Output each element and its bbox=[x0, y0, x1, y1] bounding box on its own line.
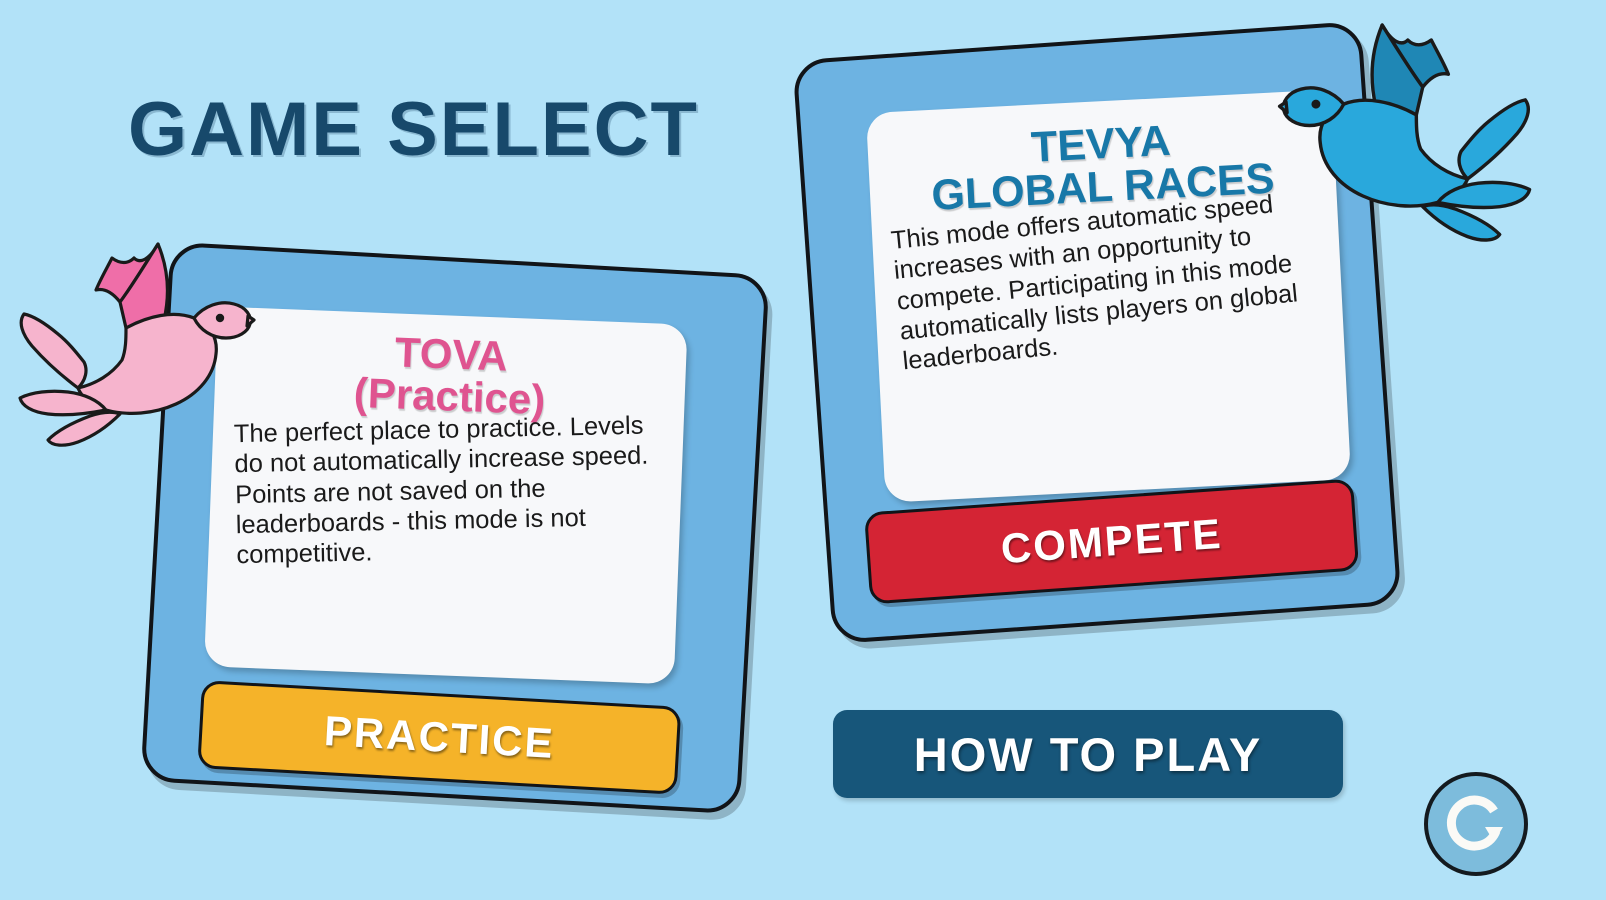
practice-button-label: PRACTICE bbox=[323, 707, 556, 768]
game-select-screen: GAME SELECT TOVA (Practice) The perfect … bbox=[0, 0, 1606, 900]
practice-card-panel: TOVA (Practice) The perfect place to pra… bbox=[204, 307, 687, 685]
practice-card-description: The perfect place to practice. Levels do… bbox=[234, 410, 665, 571]
how-to-play-button[interactable]: HOW TO PLAY bbox=[833, 710, 1343, 798]
dove-decoration-left bbox=[8, 228, 254, 448]
practice-button[interactable]: PRACTICE bbox=[197, 680, 681, 795]
how-to-play-label: HOW TO PLAY bbox=[914, 727, 1262, 782]
dove-decoration-right bbox=[1266, 8, 1556, 243]
refresh-button[interactable] bbox=[1424, 772, 1528, 876]
page-title: GAME SELECT bbox=[128, 86, 699, 173]
compete-button-label: COMPETE bbox=[999, 510, 1223, 573]
refresh-icon bbox=[1439, 787, 1513, 861]
